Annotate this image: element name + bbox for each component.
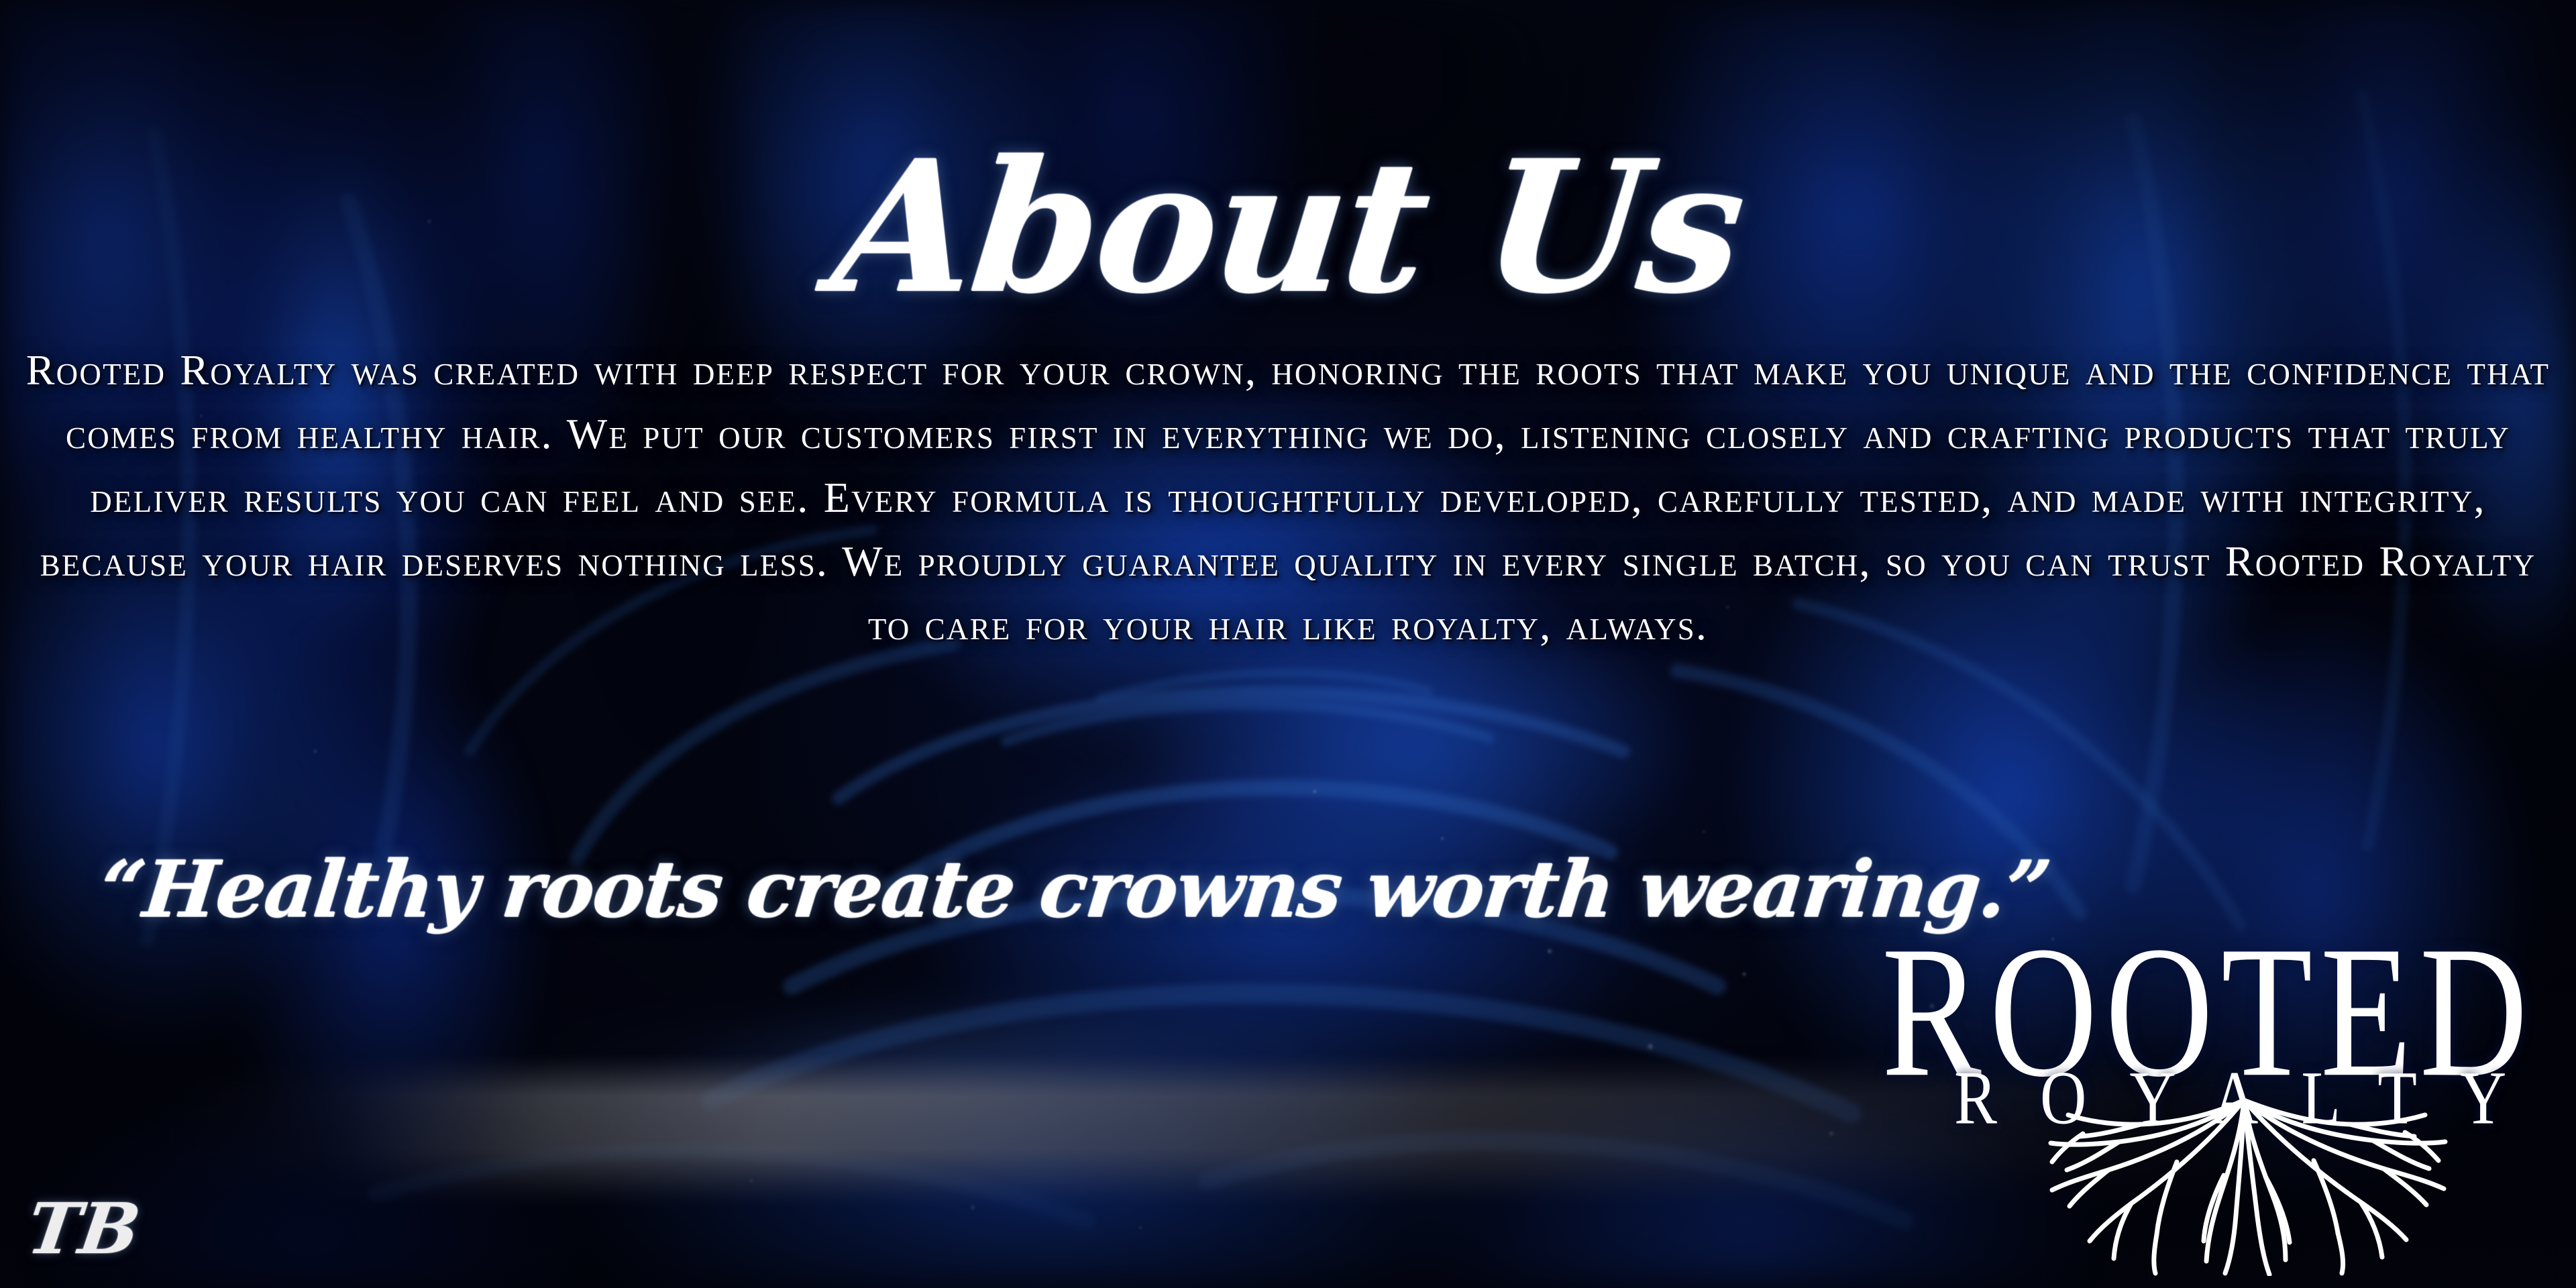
brand-logo[interactable]: ROOTED ROYALTY	[1875, 918, 2576, 1273]
artist-signature: TB	[23, 1194, 144, 1264]
about-us-banner: About Us Rooted Royalty was created with…	[0, 0, 2576, 1288]
tree-roots-icon	[1976, 1095, 2512, 1276]
about-paragraph: Rooted Royalty was created with deep res…	[16, 338, 2560, 657]
brand-quote: “Healthy roots create crowns worth weari…	[96, 847, 2053, 934]
page-title: About Us	[0, 136, 2576, 317]
banner-content: About Us Rooted Royalty was created with…	[0, 0, 2576, 1288]
